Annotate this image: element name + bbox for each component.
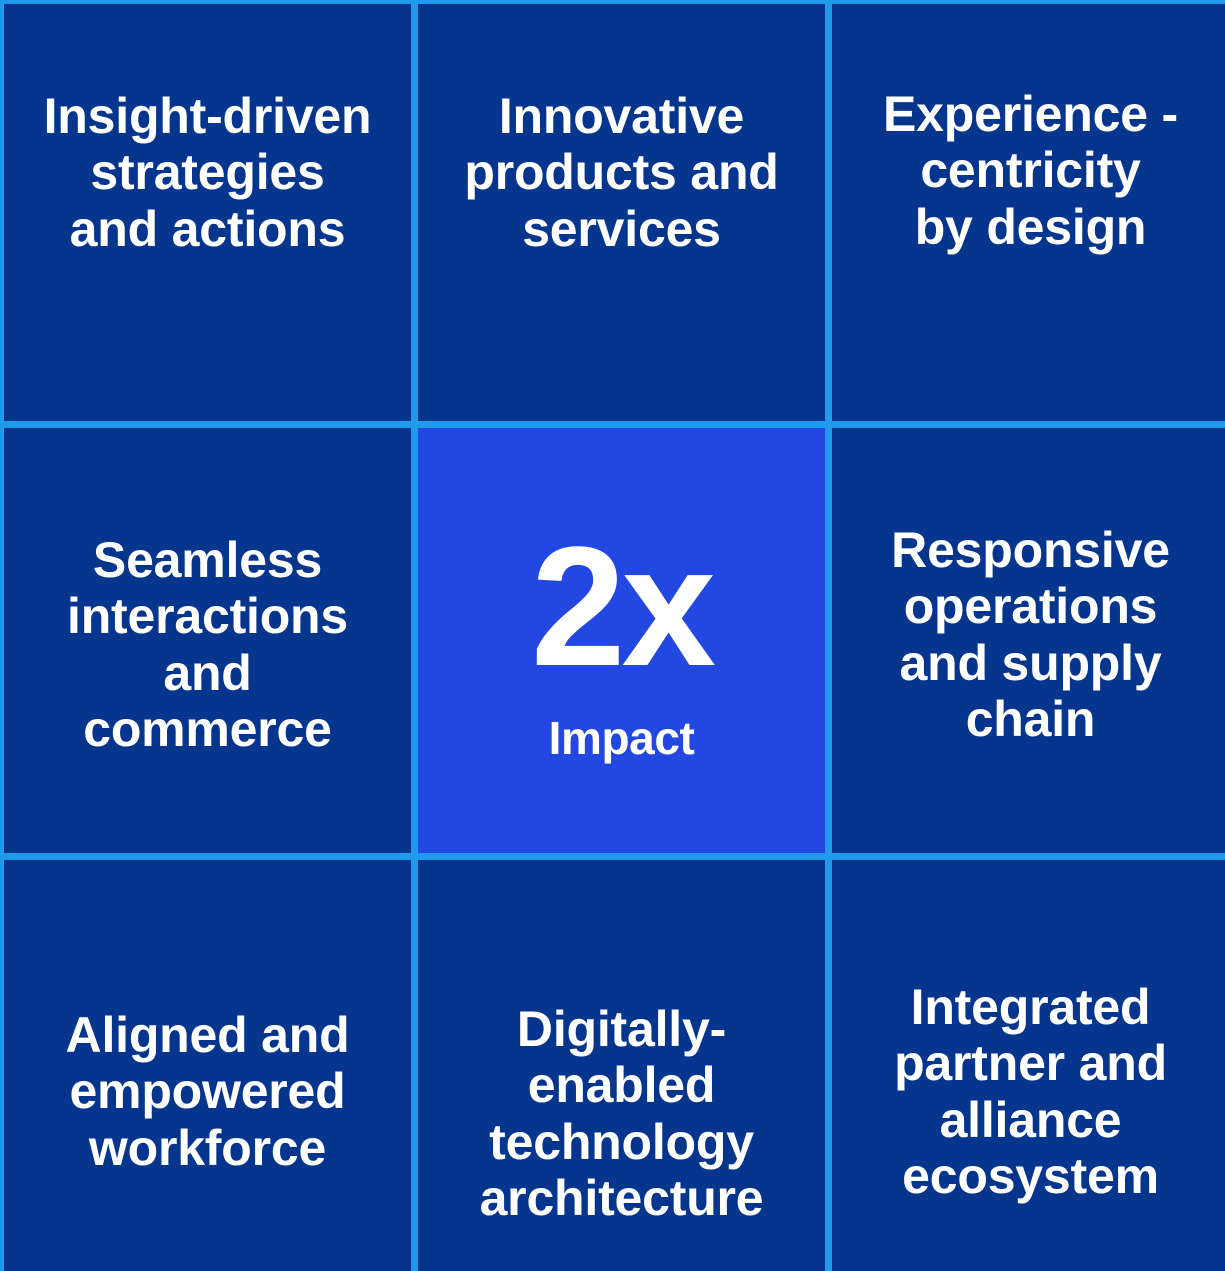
cell-label: Experience - centricity by design: [873, 86, 1188, 256]
cell-label: Innovative products and services: [454, 88, 788, 258]
cell-label: Insight-driven strategies and actions: [34, 88, 382, 258]
cell-impact-metric[interactable]: 2x Impact: [418, 428, 825, 853]
cell-label: Integrated partner and alliance ecosyste…: [884, 979, 1177, 1205]
cell-experience-centricity-by-design[interactable]: Experience - centricity by design: [832, 4, 1225, 421]
cell-aligned-and-empowered-workforce[interactable]: Aligned and empowered workforce: [4, 860, 411, 1271]
impact-metric: 2x Impact: [531, 529, 712, 764]
cell-label: Digitally- enabled technology architectu…: [470, 1001, 774, 1227]
capability-grid: Insight-driven strategies and actions In…: [0, 0, 1225, 1271]
impact-metric-value: 2x: [531, 529, 712, 685]
cell-label: Aligned and empowered workforce: [56, 1007, 360, 1177]
cell-insight-driven-strategies-and-actions[interactable]: Insight-driven strategies and actions: [4, 4, 411, 421]
impact-metric-caption: Impact: [549, 713, 695, 764]
cell-digitally-enabled-technology-architecture[interactable]: Digitally- enabled technology architectu…: [418, 860, 825, 1271]
cell-innovative-products-and-services[interactable]: Innovative products and services: [418, 4, 825, 421]
cell-label: Seamless interactions and commerce: [57, 532, 358, 758]
cell-seamless-interactions-and-commerce[interactable]: Seamless interactions and commerce: [4, 428, 411, 853]
capability-grid-graphic: Insight-driven strategies and actions In…: [0, 0, 1225, 1271]
cell-integrated-partner-and-alliance-ecosystem[interactable]: Integrated partner and alliance ecosyste…: [832, 860, 1225, 1271]
cell-label: Responsive operations and supply chain: [881, 522, 1180, 748]
cell-responsive-operations-and-supply-chain[interactable]: Responsive operations and supply chain: [832, 428, 1225, 853]
